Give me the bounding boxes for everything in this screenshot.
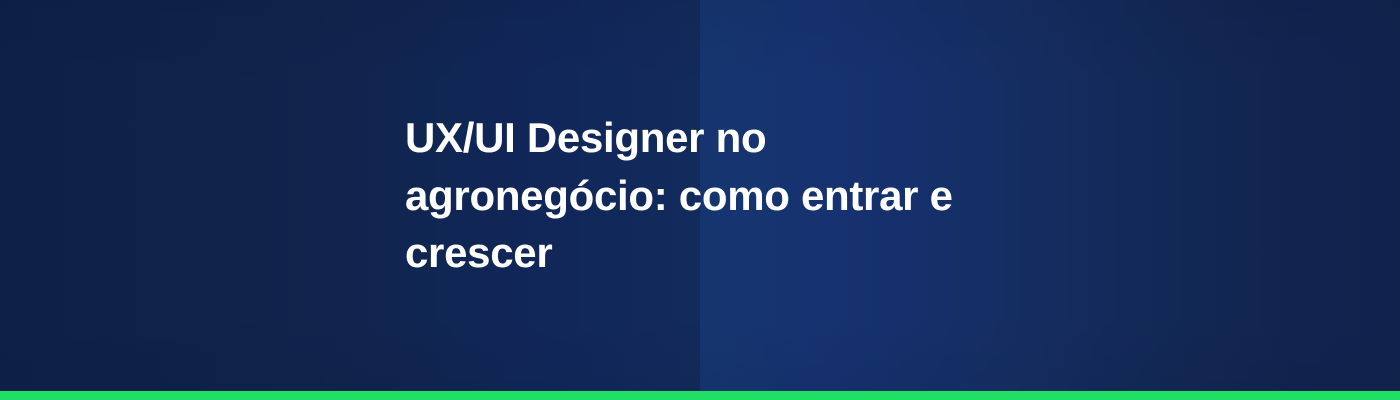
page-title: UX/UI Designer no agronegócio: como entr… (405, 109, 1005, 282)
hero-banner: UX/UI Designer no agronegócio: como entr… (0, 0, 1400, 400)
accent-bar (0, 391, 1400, 400)
hero-content: UX/UI Designer no agronegócio: como entr… (405, 0, 1005, 391)
